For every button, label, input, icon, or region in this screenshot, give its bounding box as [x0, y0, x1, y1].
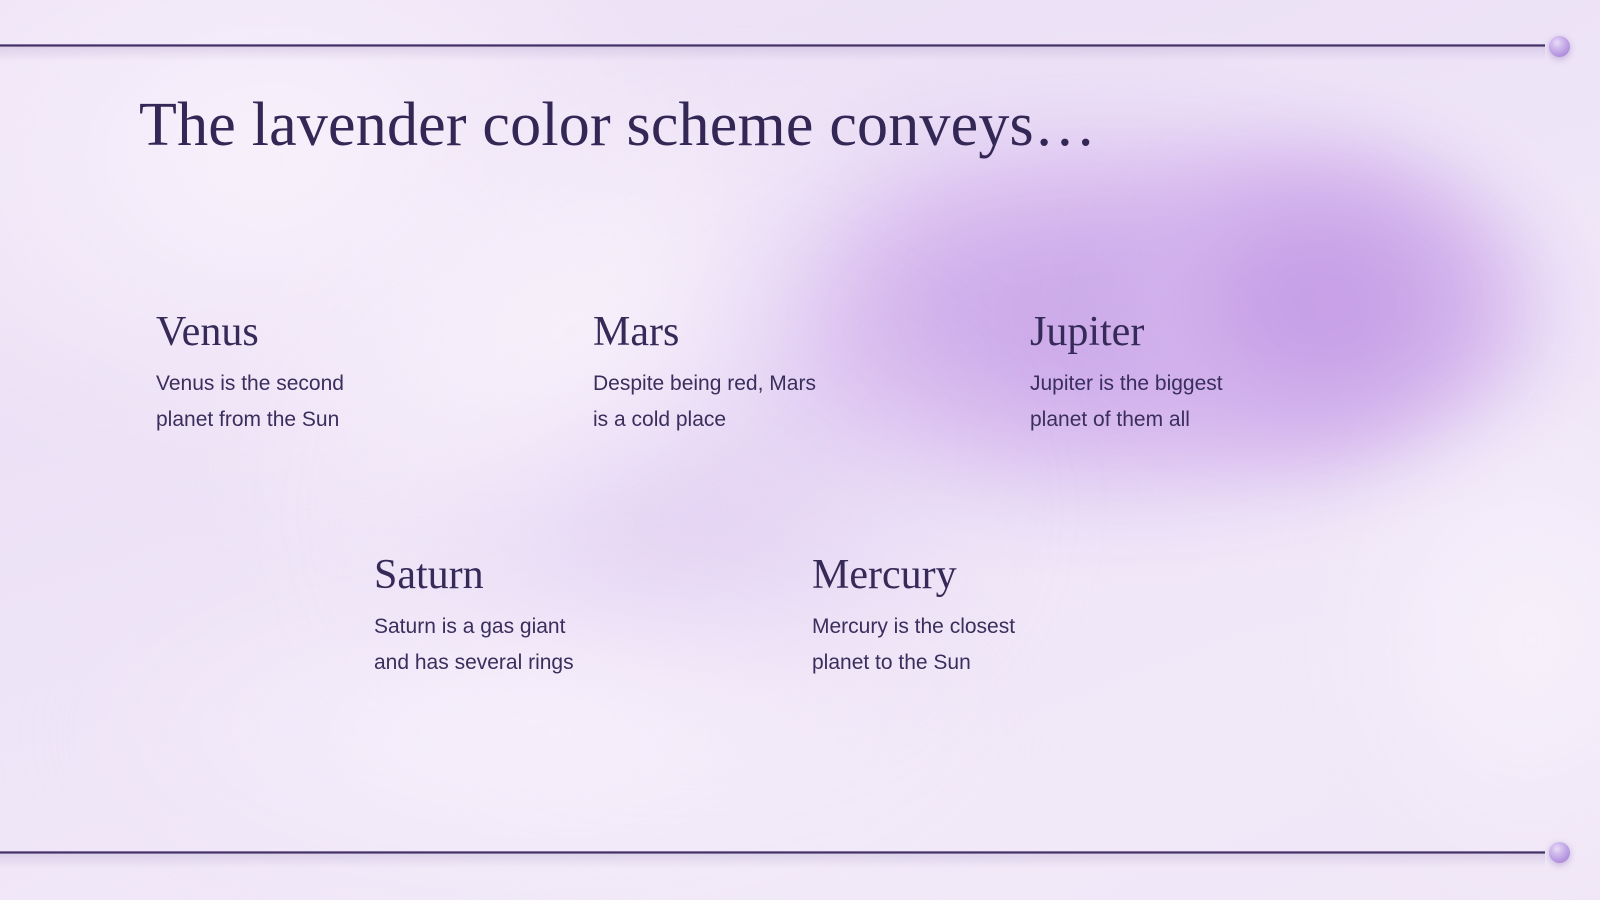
planet-name: Mercury [812, 553, 1015, 597]
planet-block-mars: Mars Despite being red, Mars is a cold p… [593, 310, 816, 438]
planet-name: Mars [593, 310, 816, 354]
slide-title: The lavender color scheme conveys… [139, 90, 1096, 161]
planet-block-venus: Venus Venus is the second planet from th… [156, 310, 344, 438]
planet-block-mercury: Mercury Mercury is the closest planet to… [812, 553, 1015, 681]
divider-bottom-shadow [0, 854, 1545, 868]
planet-description: Despite being red, Mars is a cold place [593, 366, 816, 438]
bead-sphere-bottom-right-icon [1549, 842, 1570, 863]
bead-sphere-top-right-icon [1549, 36, 1570, 57]
planet-name: Saturn [374, 553, 574, 597]
planet-description: Venus is the second planet from the Sun [156, 366, 344, 438]
planet-name: Venus [156, 310, 344, 354]
planet-block-jupiter: Jupiter Jupiter is the biggest planet of… [1030, 310, 1223, 438]
presentation-slide: The lavender color scheme conveys… Venus… [0, 0, 1600, 900]
planet-description: Saturn is a gas giant and has several ri… [374, 609, 574, 681]
divider-top-shadow [0, 47, 1545, 61]
planet-name: Jupiter [1030, 310, 1223, 354]
planet-description: Mercury is the closest planet to the Sun [812, 609, 1015, 681]
divider-line-bottom [0, 851, 1545, 854]
planet-description: Jupiter is the biggest planet of them al… [1030, 366, 1223, 438]
planet-block-saturn: Saturn Saturn is a gas giant and has sev… [374, 553, 574, 681]
divider-line-top [0, 44, 1545, 47]
